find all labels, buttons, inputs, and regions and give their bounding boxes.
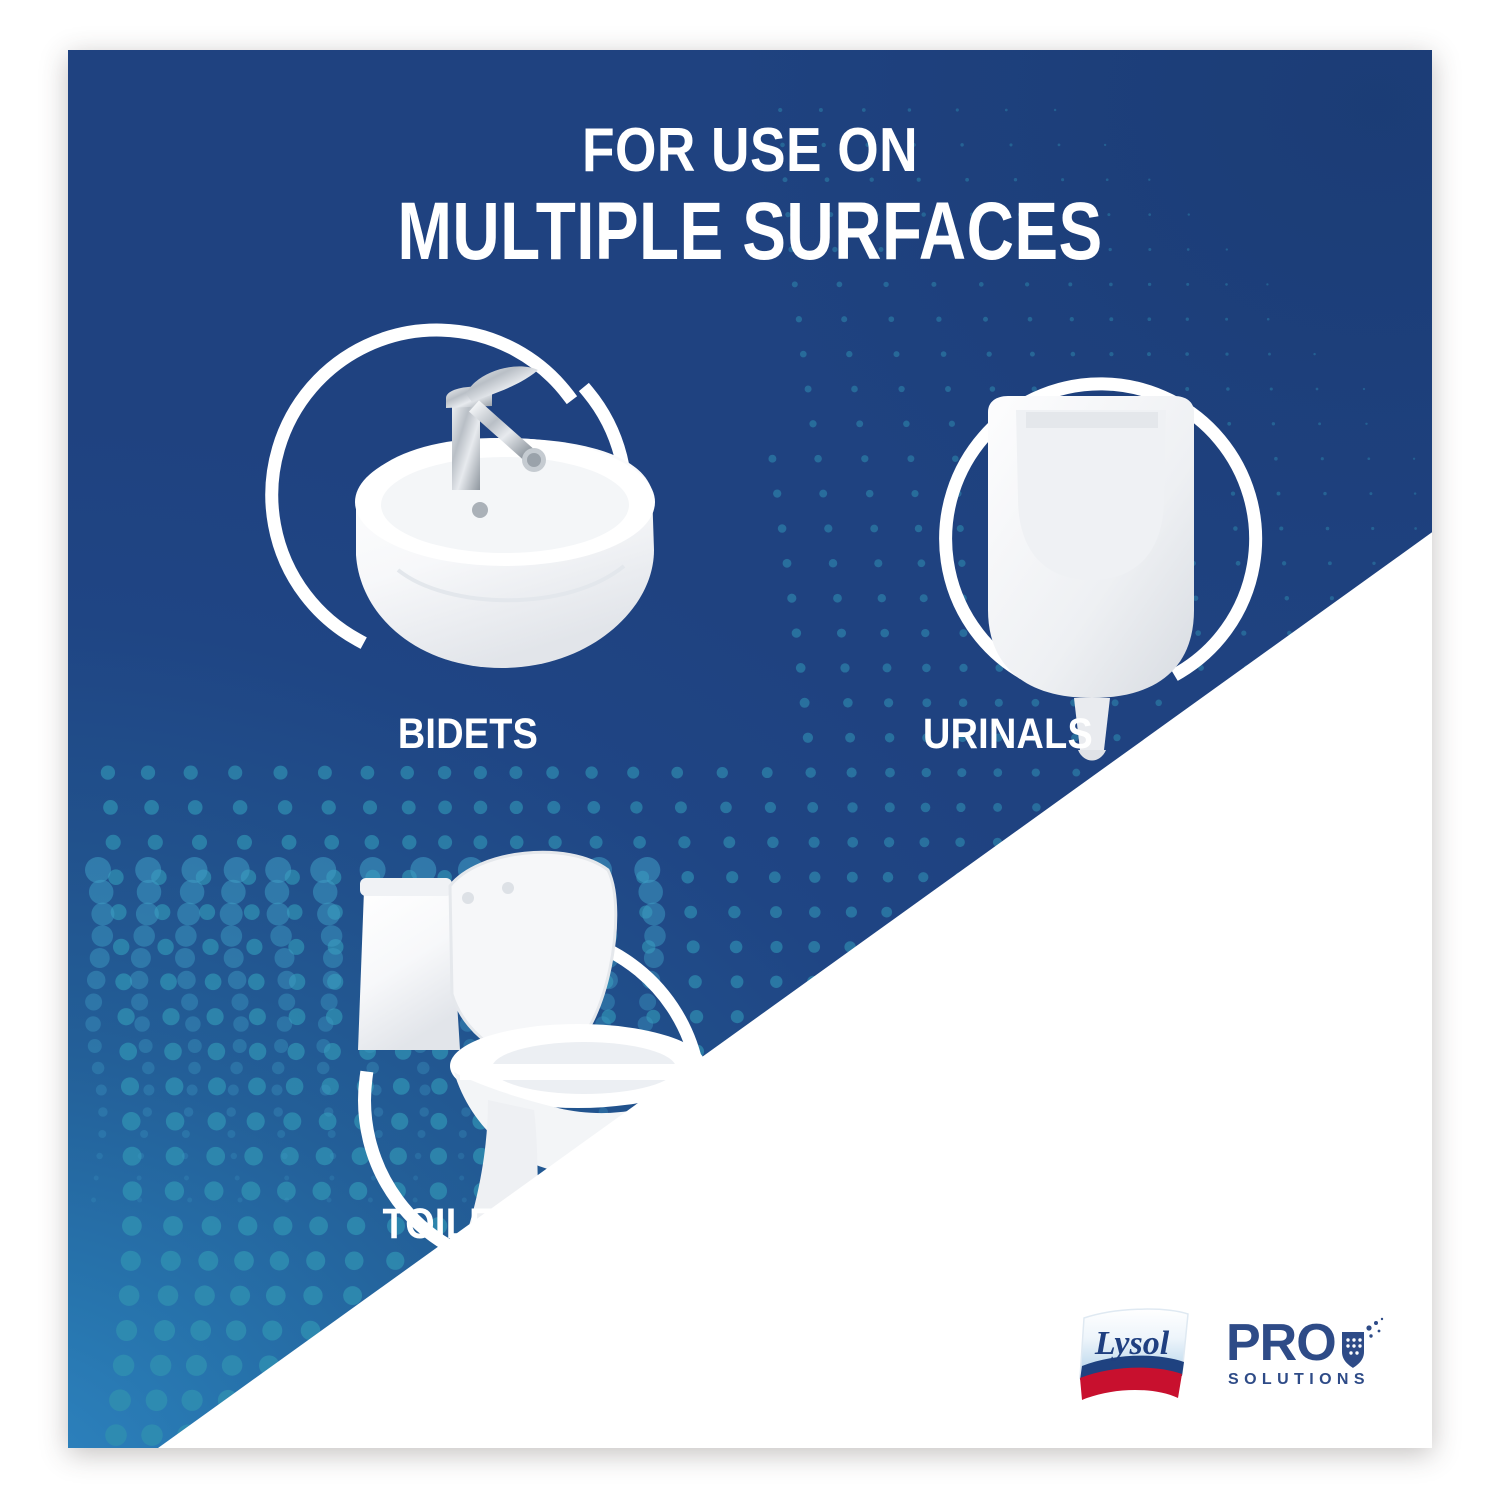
lysol-logo: Lysol (1070, 1302, 1198, 1406)
headline-line-2: MULTIPLE SURFACES (204, 191, 1295, 273)
pro-wordmark: PRO (1226, 1314, 1336, 1372)
toilet-tank-lid (360, 878, 452, 896)
pro-solutions-logo: PRO SOLUTIONS (1224, 1312, 1388, 1396)
bidet-bowl-inner (381, 457, 629, 553)
poster-canvas: FOR USE ON MULTIPLE SURFACES BIDETS URIN… (0, 0, 1500, 1500)
navy-panel: FOR USE ON MULTIPLE SURFACES BIDETS URIN… (68, 50, 1432, 1448)
headline-line-1: FOR USE ON (163, 120, 1336, 182)
urinal-basin (1016, 410, 1166, 580)
pro-shield-icon (1342, 1318, 1383, 1368)
urinal-top-shelf (1026, 412, 1158, 428)
lysol-wordmark: Lysol (1094, 1325, 1170, 1362)
pro-dispersing-dots (1366, 1318, 1383, 1338)
page-title: FOR USE ON MULTIPLE SURFACES (68, 120, 1432, 273)
bidet-photo (272, 330, 655, 668)
bidet-drain (472, 502, 488, 518)
solutions-wordmark: SOLUTIONS (1228, 1371, 1370, 1388)
toilet-tank (358, 890, 460, 1050)
caption-bidets: BIDETS (292, 710, 644, 759)
logo-lockup: Lysol PRO S (1070, 1300, 1388, 1408)
